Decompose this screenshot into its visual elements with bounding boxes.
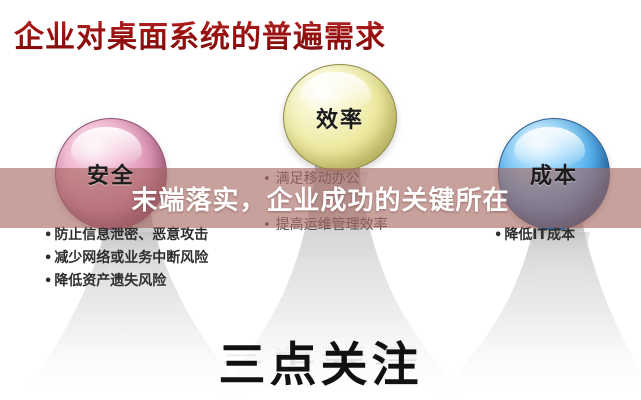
list-item: 降低资产遗失风险: [44, 270, 208, 293]
bullet-list-safety: 防止信息泄密、恶意攻击 减少网络或业务中断风险 降低资产遗失风险: [44, 224, 208, 293]
sphere-efficiency: 效率: [283, 64, 397, 171]
sphere-label-cost: 成本: [530, 158, 578, 190]
slide-canvas: 企业对桌面系统的普遍需求 安全 效率 成本 防止信息泄密、恶意攻击 减少网络或业…: [0, 0, 641, 400]
list-item: 减少网络或业务中断风险: [44, 247, 208, 270]
sphere-label-efficiency: 效率: [316, 102, 364, 134]
page-title: 企业对桌面系统的普遍需求: [14, 12, 386, 56]
bottom-heading: 三点关注: [0, 326, 641, 395]
sphere-label-safety: 安全: [87, 158, 135, 190]
overlay-banner-text: 末端落实，企业成功的关键所在: [131, 180, 509, 217]
